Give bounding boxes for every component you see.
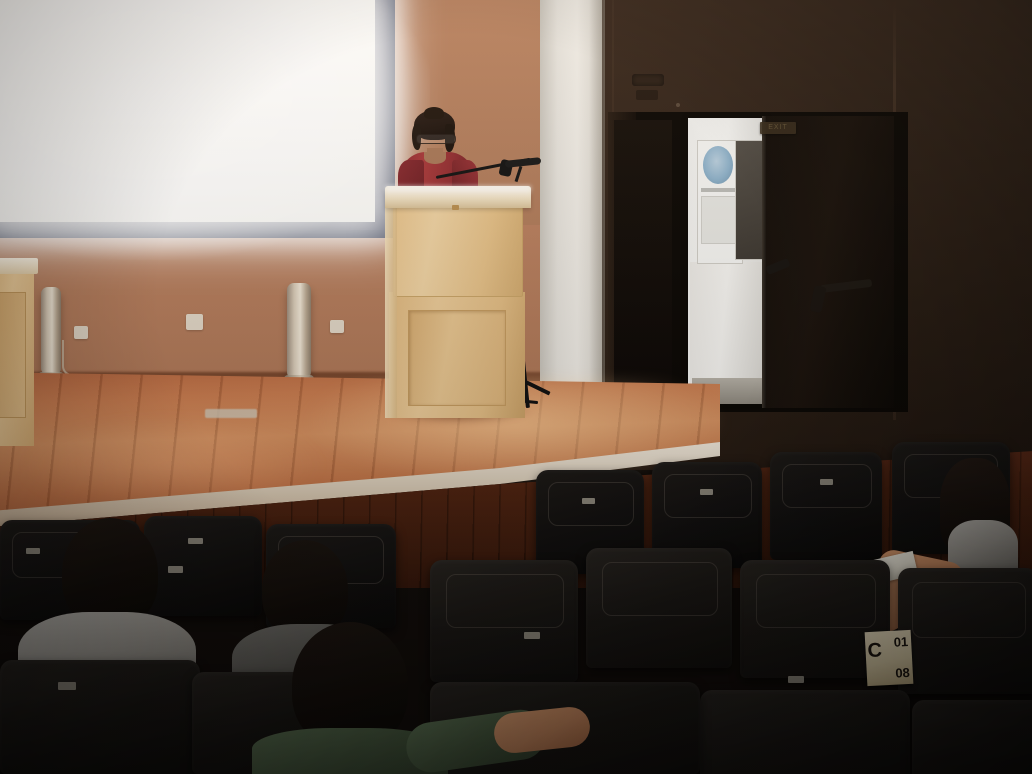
seat[interactable] [912, 700, 1032, 774]
wall-sensor-dot-icon [676, 103, 680, 107]
stage-floor-socket-plate [205, 409, 257, 418]
lectern-front-panel [408, 310, 506, 406]
loudspeaker-left-cable [62, 340, 80, 376]
seat[interactable] [700, 690, 910, 774]
seat-tag [700, 489, 713, 495]
seat-back-rim [446, 574, 564, 628]
seat-number-plate: C 01 08 [865, 630, 914, 686]
seat-number-bottom: 08 [895, 665, 910, 681]
seat-tag [582, 498, 595, 504]
wall-fixture-icon [632, 74, 664, 86]
seat-back-rim [782, 464, 872, 508]
lectern-latch-icon [452, 205, 459, 210]
wall-outlet-left [74, 326, 88, 339]
door-lower-panel [690, 262, 764, 394]
seat-back-rim [548, 482, 634, 526]
secondary-lectern-panel [0, 292, 26, 418]
seat-tag [58, 682, 76, 690]
seat-tag [788, 676, 804, 683]
door-leaf-closed-left[interactable] [614, 120, 672, 408]
wall-fixture-base-icon [636, 90, 658, 100]
seat-back-rim [664, 474, 752, 518]
loudspeaker-left [41, 287, 61, 375]
seat-tag [26, 548, 40, 554]
lectern-upper-face [393, 203, 523, 297]
seat-back-rim [602, 562, 718, 616]
seat-back-rim [756, 574, 876, 628]
wall-outlet-right [330, 320, 344, 333]
right-wall-seam-upper [612, 0, 614, 118]
poster-lower-panel [701, 196, 737, 244]
seat-tag [188, 538, 203, 544]
secondary-lectern-top [0, 258, 38, 274]
seat-back-rim [912, 582, 1026, 638]
lectern-left-edge [385, 192, 397, 418]
seat-number-top: 01 [893, 634, 908, 650]
wall-outlet-center [186, 314, 203, 330]
seat-tag [524, 632, 540, 639]
seat-tag [820, 479, 833, 485]
seat[interactable] [144, 516, 262, 616]
seat-row-letter: C [867, 639, 883, 663]
auditorium-photo: blank / overexposed white EXIT second le… [0, 0, 1032, 774]
presenter-hair-bun [424, 107, 444, 119]
poster-blue-circle-icon [703, 146, 733, 184]
poster-divider [701, 188, 737, 192]
eyeglasses-icon [416, 134, 456, 144]
lectern-top-highlight [385, 186, 531, 196]
seat[interactable] [0, 660, 200, 774]
wall-pillar-shadow [589, 0, 605, 418]
projection-screen-surface [0, 0, 375, 222]
seat-tag [168, 566, 183, 573]
exit-sign: EXIT [760, 122, 796, 134]
loudspeaker-center [287, 283, 311, 379]
